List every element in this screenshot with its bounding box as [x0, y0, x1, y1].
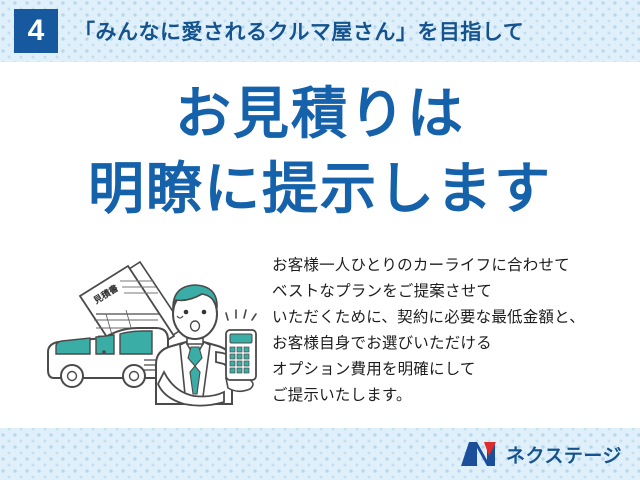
body-line-3: いただくために、契約に必要な最低金額と、 [272, 304, 622, 330]
body-line-5: オプション費用を明確にして [272, 356, 622, 382]
body-line-4: お客様自身でお選びいただける [272, 330, 622, 356]
sparkle-icon [226, 310, 256, 320]
content-card: お見積りは 明瞭に提示します 見積書 [0, 62, 640, 428]
calculator-icon [226, 310, 256, 380]
footer-bar: ネクステージ [0, 428, 640, 480]
nextage-n-logo-icon [459, 440, 499, 468]
body-line-1: お客様一人ひとりのカーライフに合わせて [272, 252, 622, 278]
van-icon [48, 328, 168, 387]
brand-logo: ネクステージ [459, 440, 622, 468]
illustration-group: 見積書 [34, 252, 266, 417]
body-copy: お客様一人ひとりのカーライフに合わせて ベストなプランをご提案させて いただくた… [272, 252, 622, 408]
body-line-2: ベストなプランをご提案させて [272, 278, 622, 304]
step-number-badge: 4 [14, 9, 58, 53]
illustration-svg: 見積書 [34, 252, 266, 417]
body-line-6: ご提示いたします。 [272, 382, 622, 408]
headline-line-2: 明瞭に提示します [0, 162, 640, 218]
header-title: 「みんなに愛されるクルマ屋さん」を目指して [74, 16, 524, 46]
header-bar: 4 「みんなに愛されるクルマ屋さん」を目指して [0, 0, 640, 62]
headline-line-1: お見積りは [0, 87, 640, 143]
promo-banner: 4 「みんなに愛されるクルマ屋さん」を目指して お見積りは 明瞭に提示します 見… [0, 0, 640, 480]
brand-name: ネクステージ [506, 441, 622, 468]
